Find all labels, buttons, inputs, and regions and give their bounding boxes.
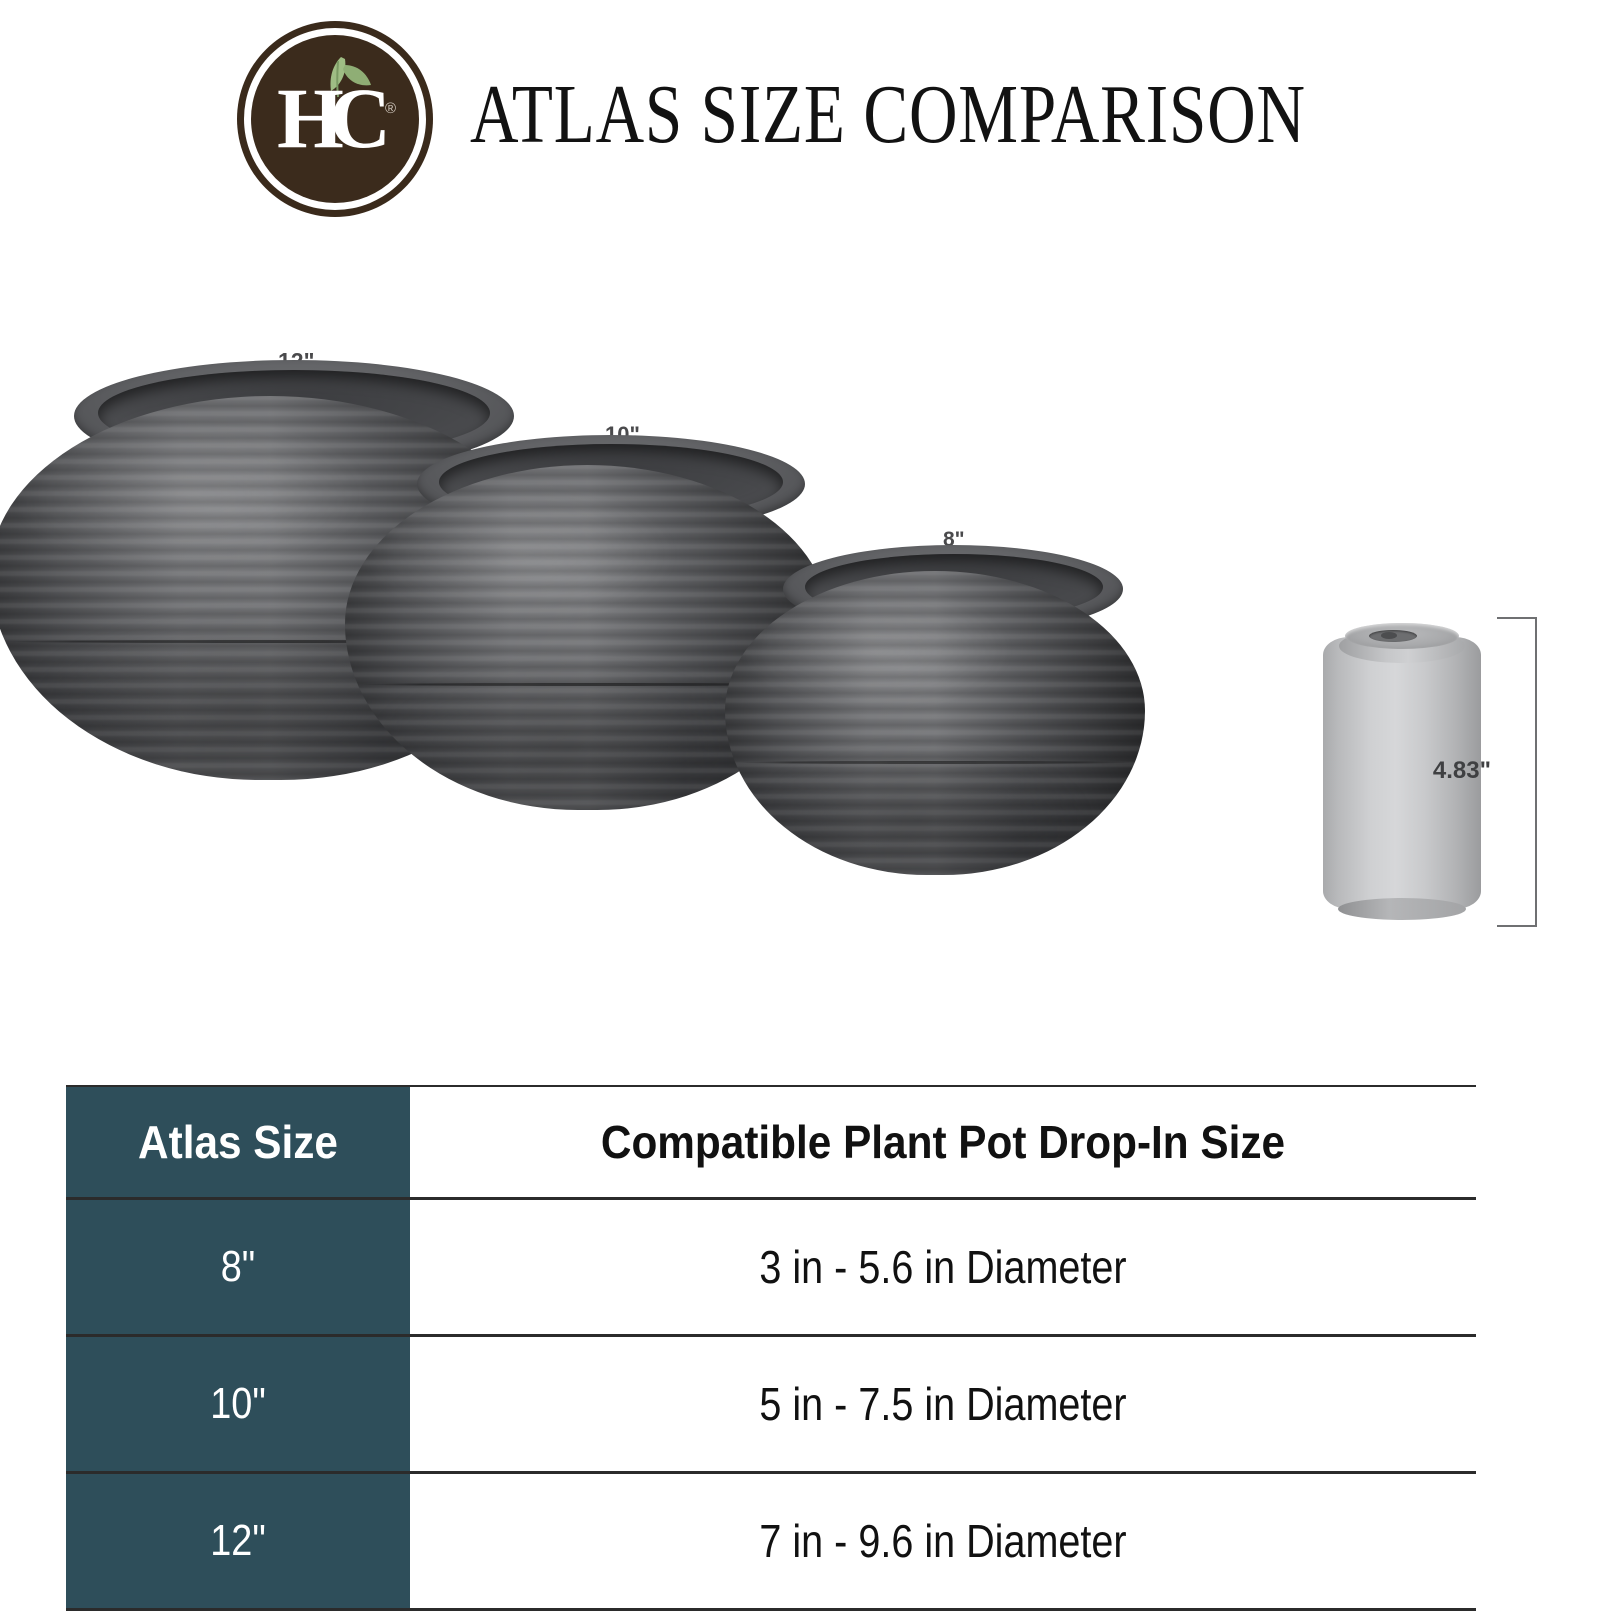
brand-logo: H C ®: [237, 21, 433, 217]
cell-atlas-size: 12": [66, 1472, 410, 1609]
table-row: 10" 5 in - 7.5 in Diameter: [66, 1335, 1476, 1472]
column-header-drop-in-size: Compatible Plant Pot Drop-In Size: [410, 1086, 1476, 1198]
cell-drop-in-size: 5 in - 7.5 in Diameter: [410, 1335, 1476, 1472]
can-tab-hole: [1381, 632, 1397, 639]
table-row: 8" 3 in - 5.6 in Diameter: [66, 1198, 1476, 1335]
table-row: 12" 7 in - 9.6 in Diameter: [66, 1472, 1476, 1609]
cell-drop-in-size: 7 in - 9.6 in Diameter: [410, 1472, 1476, 1609]
can-dimension-bracket: 4.83": [1497, 617, 1537, 927]
page-title: ATLAS SIZE COMPARISON: [470, 60, 1190, 170]
scale-reference-can-group: 4.83": [1305, 605, 1600, 945]
svg-text:C: C: [329, 70, 391, 166]
registered-trademark-icon: ®: [385, 100, 396, 117]
dimension-tick-bottom: [1497, 925, 1535, 927]
size-spec-table: Atlas Size Compatible Plant Pot Drop-In …: [66, 1085, 1476, 1611]
logo-monogram-mark: H C ®: [237, 21, 433, 217]
cell-atlas-size: 8": [66, 1198, 410, 1335]
cell-drop-in-size: 3 in - 5.6 in Diameter: [410, 1198, 1476, 1335]
dimension-line: [1535, 617, 1537, 927]
can-base: [1338, 898, 1466, 920]
cell-atlas-size: 10": [66, 1335, 410, 1472]
table-header-row: Atlas Size Compatible Plant Pot Drop-In …: [66, 1086, 1476, 1198]
planter-8in-shading: [725, 571, 1145, 875]
dimension-tick-top: [1497, 617, 1535, 619]
product-comparison-stage: 12" 10" 8": [0, 250, 1600, 1050]
page-header: H C ® ATLAS SIZE COMPARISON: [0, 0, 1600, 250]
planter-8in-body: [725, 571, 1145, 875]
planter-8in: 8": [725, 545, 1145, 875]
column-header-atlas-size: Atlas Size: [66, 1086, 410, 1198]
can-height-label: 4.83": [1391, 757, 1491, 785]
